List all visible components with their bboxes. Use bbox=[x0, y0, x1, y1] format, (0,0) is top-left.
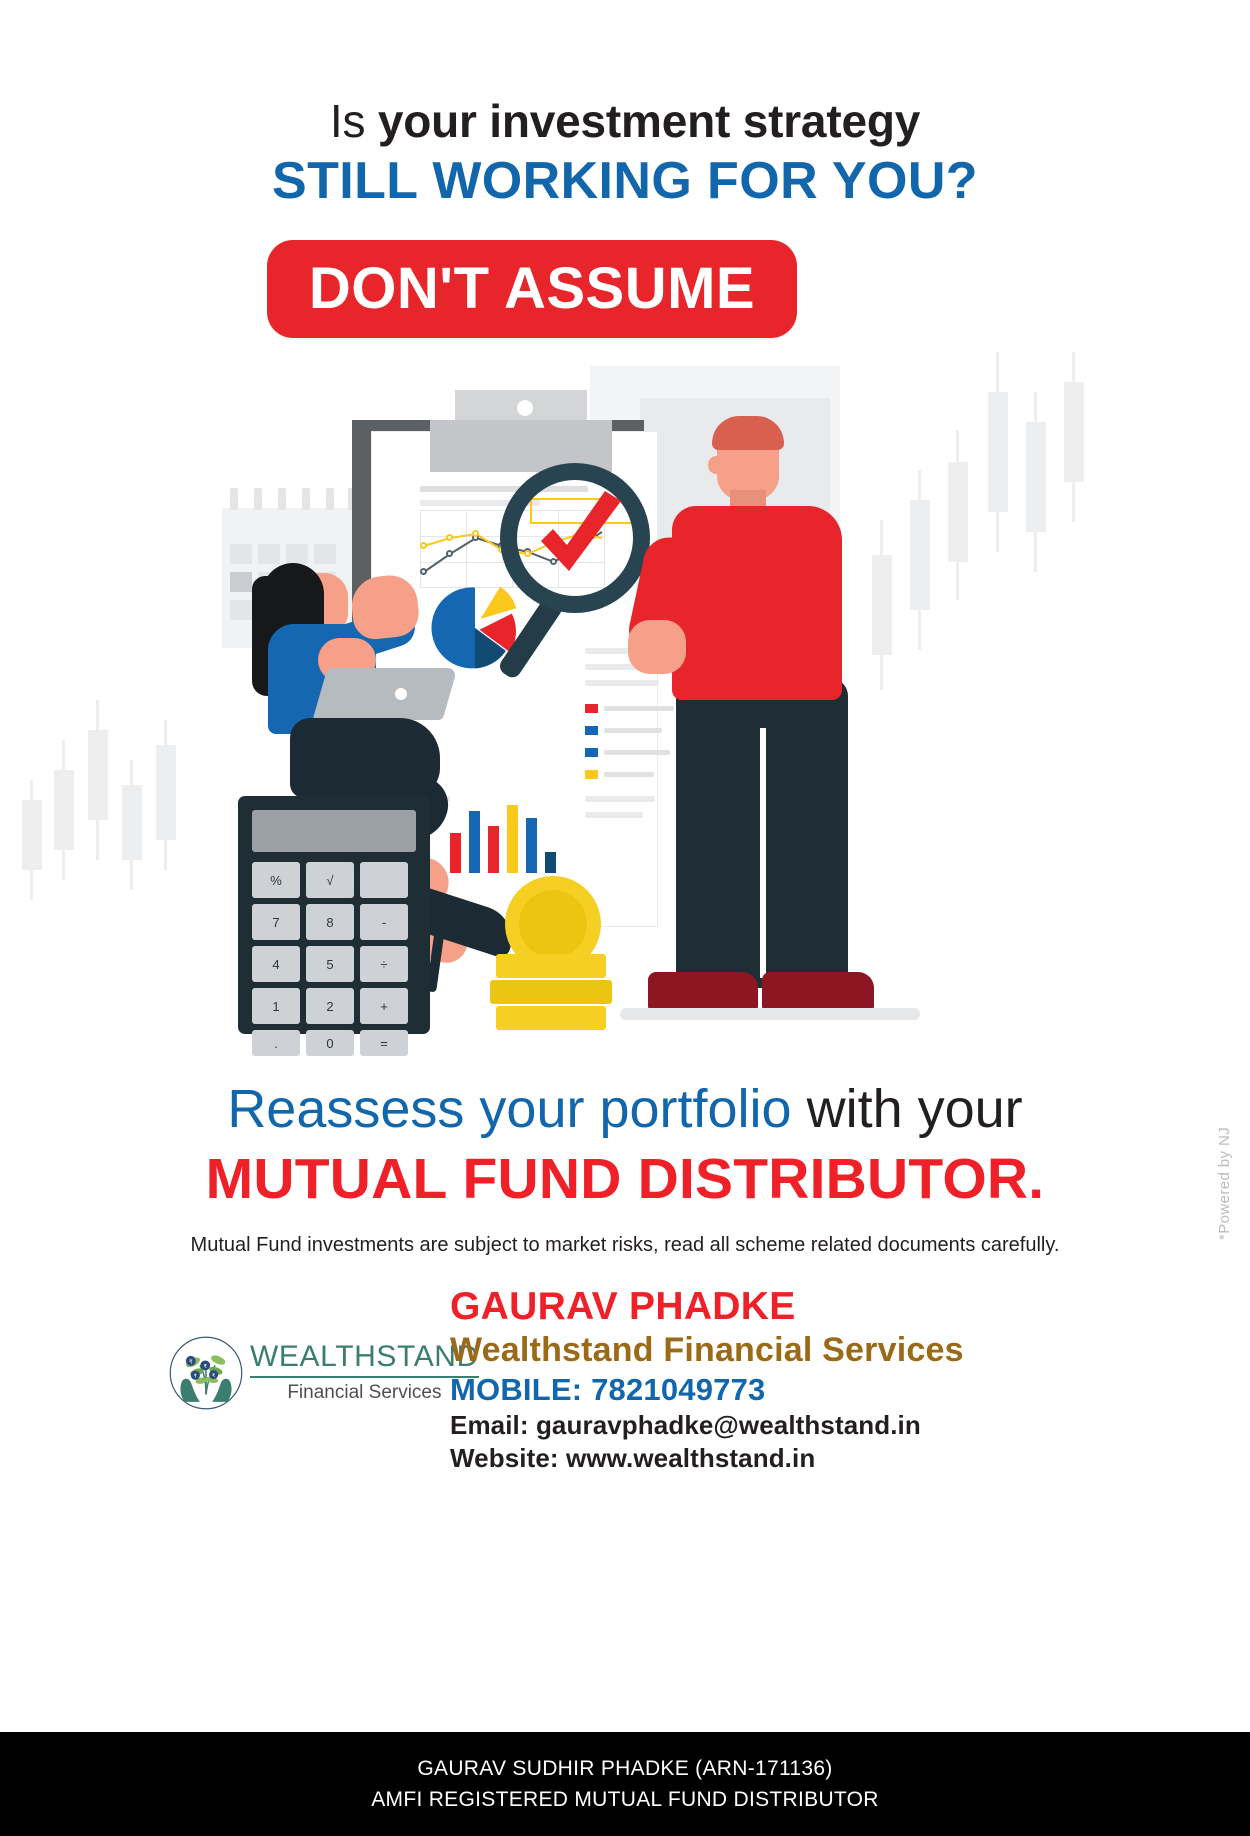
calculator-key: = bbox=[360, 1030, 408, 1056]
gold-coin-stack bbox=[496, 1006, 606, 1030]
calculator-key: . bbox=[252, 1030, 300, 1056]
bar bbox=[507, 805, 518, 873]
calculator-key: - bbox=[360, 904, 408, 940]
legend-row bbox=[585, 747, 677, 760]
calculator-key: 8 bbox=[306, 904, 354, 940]
calculator-key: 7 bbox=[252, 904, 300, 940]
man-trouser-seam bbox=[760, 728, 766, 978]
footer-bar: GAURAV SUDHIR PHADKE (ARN-171136) AMFI R… bbox=[0, 1732, 1250, 1836]
contact-block: GAURAV PHADKE Wealthstand Financial Serv… bbox=[450, 1284, 1090, 1475]
calculator-key: 4 bbox=[252, 946, 300, 982]
headline-emphasis: your investment strategy bbox=[378, 95, 920, 147]
advisor-name: GAURAV PHADKE bbox=[450, 1284, 1090, 1329]
calculator-screen bbox=[252, 810, 416, 852]
bar bbox=[450, 833, 461, 873]
man-hand bbox=[628, 620, 686, 674]
tagline-blue-part: Reassess your portfolio bbox=[227, 1079, 791, 1139]
calculator-key bbox=[360, 862, 408, 898]
tagline-block: Reassess your portfolio with your MUTUAL… bbox=[0, 1074, 1250, 1214]
bar bbox=[469, 811, 480, 873]
website-address[interactable]: Website: www.wealthstand.in bbox=[450, 1442, 1090, 1475]
footer-amfi-line: AMFI REGISTERED MUTUAL FUND DISTRIBUTOR bbox=[371, 1784, 879, 1815]
headline-word-is: Is bbox=[330, 95, 378, 147]
svg-text:₹: ₹ bbox=[204, 1364, 207, 1370]
man-shoe-left bbox=[648, 972, 758, 1012]
bar-chart-graphic bbox=[450, 803, 560, 873]
gold-coin-stack bbox=[496, 954, 606, 978]
document-line bbox=[585, 680, 659, 686]
calculator-key: 0 bbox=[306, 1030, 354, 1056]
man-hair bbox=[712, 416, 784, 450]
wealthstand-logo: ₹ ₹ ₹ ₹ WEALTHSTAND Financial Services bbox=[168, 1330, 430, 1416]
calculator-key: 5 bbox=[306, 946, 354, 982]
bar bbox=[488, 826, 499, 873]
risk-disclaimer: Mutual Fund investments are subject to m… bbox=[0, 1234, 1250, 1257]
dont-assume-label: DON'T ASSUME bbox=[309, 259, 755, 319]
tagline-black-part: with your bbox=[792, 1079, 1023, 1139]
calculator-key: √ bbox=[306, 862, 354, 898]
bar bbox=[545, 852, 556, 873]
tagline-line-1: Reassess your portfolio with your bbox=[0, 1074, 1250, 1144]
legend-row bbox=[585, 769, 677, 782]
firm-name: Wealthstand Financial Services bbox=[450, 1329, 1090, 1371]
plant-in-hands-icon: ₹ ₹ ₹ ₹ bbox=[168, 1335, 244, 1411]
calculator-key: + bbox=[360, 988, 408, 1024]
hero-illustration: % √ 7 8 - 4 5 ÷ 1 2 + . 0 = bbox=[0, 348, 1250, 1068]
red-checkmark-icon bbox=[525, 483, 635, 593]
email-address[interactable]: Email: gauravphadke@wealthstand.in bbox=[450, 1409, 1090, 1442]
logo-wordmark: WEALTHSTAND Financial Services bbox=[250, 1340, 479, 1406]
calculator-key: 1 bbox=[252, 988, 300, 1024]
tagline-line-2: MUTUAL FUND DISTRIBUTOR. bbox=[0, 1144, 1250, 1214]
footer-arn-line: GAURAV SUDHIR PHADKE (ARN-171136) bbox=[417, 1753, 832, 1784]
laptop bbox=[313, 668, 458, 720]
laptop-logo bbox=[395, 688, 407, 700]
logo-tagline: Financial Services bbox=[250, 1378, 479, 1406]
mobile-number[interactable]: MOBILE: 7821049773 bbox=[450, 1371, 1090, 1409]
calculator-key: % bbox=[252, 862, 300, 898]
document-line bbox=[585, 796, 655, 802]
man-shoe-right bbox=[762, 972, 874, 1012]
headline-line-2: STILL WORKING FOR YOU? bbox=[0, 150, 1250, 212]
calculator-key: 2 bbox=[306, 988, 354, 1024]
poster-canvas: Is your investment strategy STILL WORKIN… bbox=[0, 0, 1250, 1836]
bar bbox=[526, 818, 537, 873]
gold-coin-large-inner bbox=[519, 890, 587, 958]
gold-coin-stack bbox=[490, 980, 612, 1004]
legend-list bbox=[585, 703, 677, 791]
legend-row bbox=[585, 725, 677, 738]
svg-text:₹: ₹ bbox=[212, 1373, 215, 1379]
legend-row bbox=[585, 703, 677, 716]
headline-line-1: Is your investment strategy bbox=[0, 92, 1250, 150]
svg-text:₹: ₹ bbox=[189, 1360, 192, 1366]
svg-text:₹: ₹ bbox=[194, 1374, 197, 1380]
document-line bbox=[585, 812, 643, 818]
headline-block: Is your investment strategy STILL WORKIN… bbox=[0, 92, 1250, 212]
figure-shadow bbox=[620, 1008, 920, 1020]
clipboard-clamp-hole bbox=[517, 400, 533, 416]
logo-name: WEALTHSTAND bbox=[250, 1340, 479, 1378]
calculator-key: ÷ bbox=[360, 946, 408, 982]
dont-assume-banner[interactable]: DON'T ASSUME bbox=[267, 240, 797, 338]
